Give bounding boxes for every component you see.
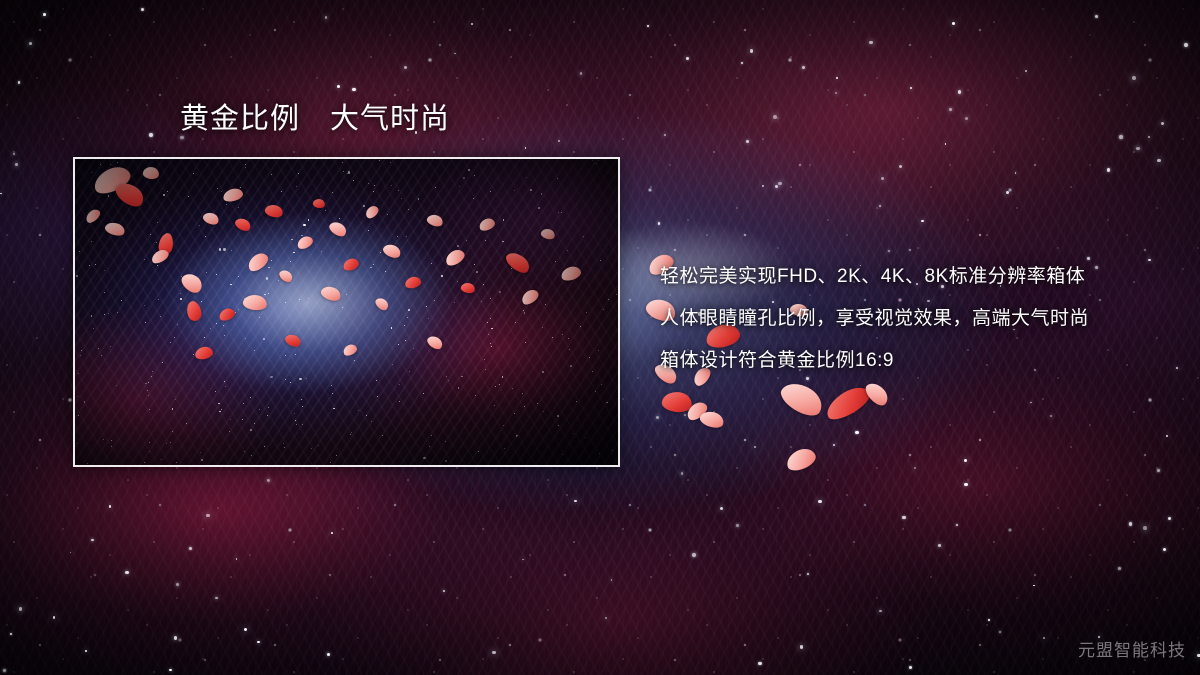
watermark: 元盟智能科技 <box>1078 636 1186 661</box>
petal <box>822 381 875 424</box>
presentation-slide: 黄金比例 大气时尚 轻松完美实现FHD、2K、4K、8K标准分辨率箱体人体眼睛瞳… <box>0 0 1200 675</box>
petal <box>862 379 891 409</box>
body-text-block: 轻松完美实现FHD、2K、4K、8K标准分辨率箱体人体眼睛瞳孔比例，享受视觉效果… <box>660 256 1180 382</box>
petal <box>698 409 725 431</box>
petal <box>784 445 819 474</box>
petal <box>684 399 710 423</box>
body-text-line: 箱体设计符合黄金比例16:9 <box>660 340 1180 382</box>
body-text-line: 人体眼睛瞳孔比例，享受视觉效果，高端大气时尚 <box>660 298 1180 340</box>
petal <box>776 376 827 421</box>
body-text-line: 轻松完美实现FHD、2K、4K、8K标准分辨率箱体 <box>660 256 1180 298</box>
petal <box>661 390 693 414</box>
